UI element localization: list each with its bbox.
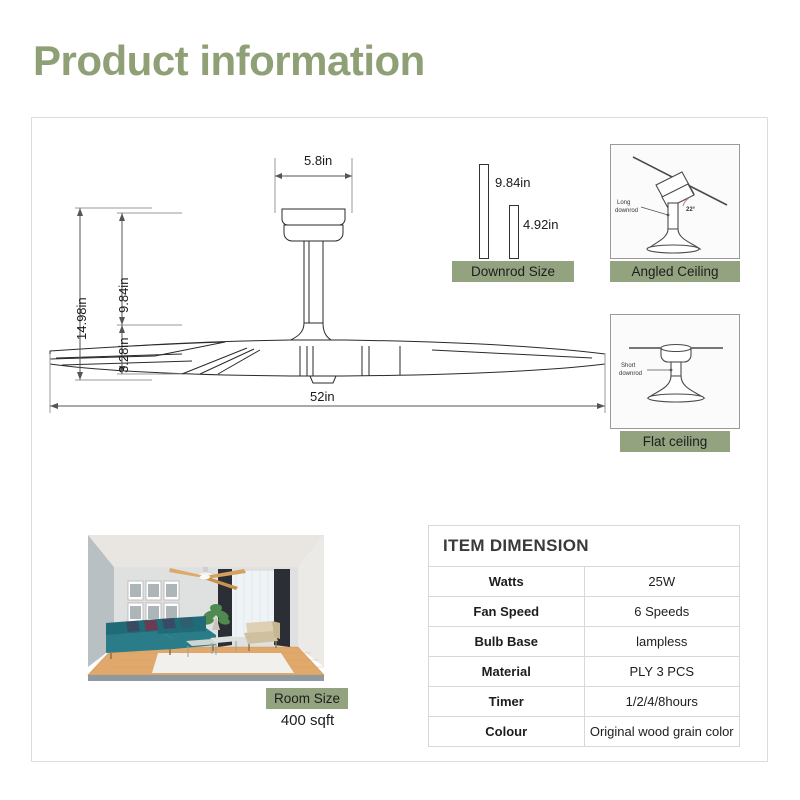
spec-key-colour: Colour bbox=[429, 717, 585, 747]
table-row: Fan Speed 6 Speeds bbox=[429, 597, 740, 627]
room-size-badge: Room Size bbox=[266, 688, 348, 709]
angled-callout-line2: downrod bbox=[615, 208, 638, 214]
long-downrod-shape bbox=[479, 164, 489, 259]
table-row: Timer 1/2/4/8hours bbox=[429, 687, 740, 717]
downrod-drop-label: 9.84in bbox=[116, 278, 131, 313]
flat-callout-line2: downrod bbox=[619, 371, 642, 377]
total-height-label: 14.98in bbox=[74, 297, 89, 340]
flat-callout-line1: Short bbox=[621, 363, 636, 369]
spec-key-bulb-base: Bulb Base bbox=[429, 627, 585, 657]
table-header-row: ITEM DIMENSION bbox=[429, 526, 740, 567]
table-row: Colour Original wood grain color bbox=[429, 717, 740, 747]
spec-value-material: PLY 3 PCS bbox=[584, 657, 740, 687]
spec-value-bulb-base: lampless bbox=[584, 627, 740, 657]
room-scene-image bbox=[66, 527, 346, 687]
canopy-width-label: 5.8in bbox=[304, 153, 332, 168]
housing-height-label: 3.28in bbox=[116, 338, 131, 373]
short-downrod-label: 4.92in bbox=[523, 217, 558, 232]
angled-ceiling-illustration: Long downrod 22° bbox=[611, 145, 739, 258]
item-dimension-table: ITEM DIMENSION Watts 25W Fan Speed 6 Spe… bbox=[428, 525, 740, 747]
blade-span-label: 52in bbox=[310, 389, 335, 404]
spec-key-fan-speed: Fan Speed bbox=[429, 597, 585, 627]
spec-key-material: Material bbox=[429, 657, 585, 687]
table-row: Watts 25W bbox=[429, 567, 740, 597]
angled-ceiling-badge: Angled Ceiling bbox=[610, 261, 740, 282]
item-dimension-title: ITEM DIMENSION bbox=[429, 526, 740, 567]
angled-angle-label: 22° bbox=[686, 207, 696, 213]
short-downrod-shape bbox=[509, 205, 519, 259]
long-downrod-label: 9.84in bbox=[495, 175, 530, 190]
flat-ceiling-frame: Short downrod bbox=[610, 314, 740, 429]
spec-value-colour: Original wood grain color bbox=[584, 717, 740, 747]
spec-key-timer: Timer bbox=[429, 687, 585, 717]
spec-value-fan-speed: 6 Speeds bbox=[584, 597, 740, 627]
flat-ceiling-illustration: Short downrod bbox=[611, 315, 739, 428]
spec-value-watts: 25W bbox=[584, 567, 740, 597]
downrod-size-badge: Downrod Size bbox=[452, 261, 574, 282]
table-row: Material PLY 3 PCS bbox=[429, 657, 740, 687]
page-title: Product information bbox=[33, 40, 425, 82]
room-size-value: 400 sqft bbox=[250, 712, 365, 729]
spec-key-watts: Watts bbox=[429, 567, 585, 597]
flat-ceiling-badge: Flat ceiling bbox=[620, 431, 730, 452]
angled-callout-line1: Long bbox=[617, 200, 630, 206]
table-row: Bulb Base lampless bbox=[429, 627, 740, 657]
spec-value-timer: 1/2/4/8hours bbox=[584, 687, 740, 717]
angled-ceiling-frame: Long downrod 22° bbox=[610, 144, 740, 259]
